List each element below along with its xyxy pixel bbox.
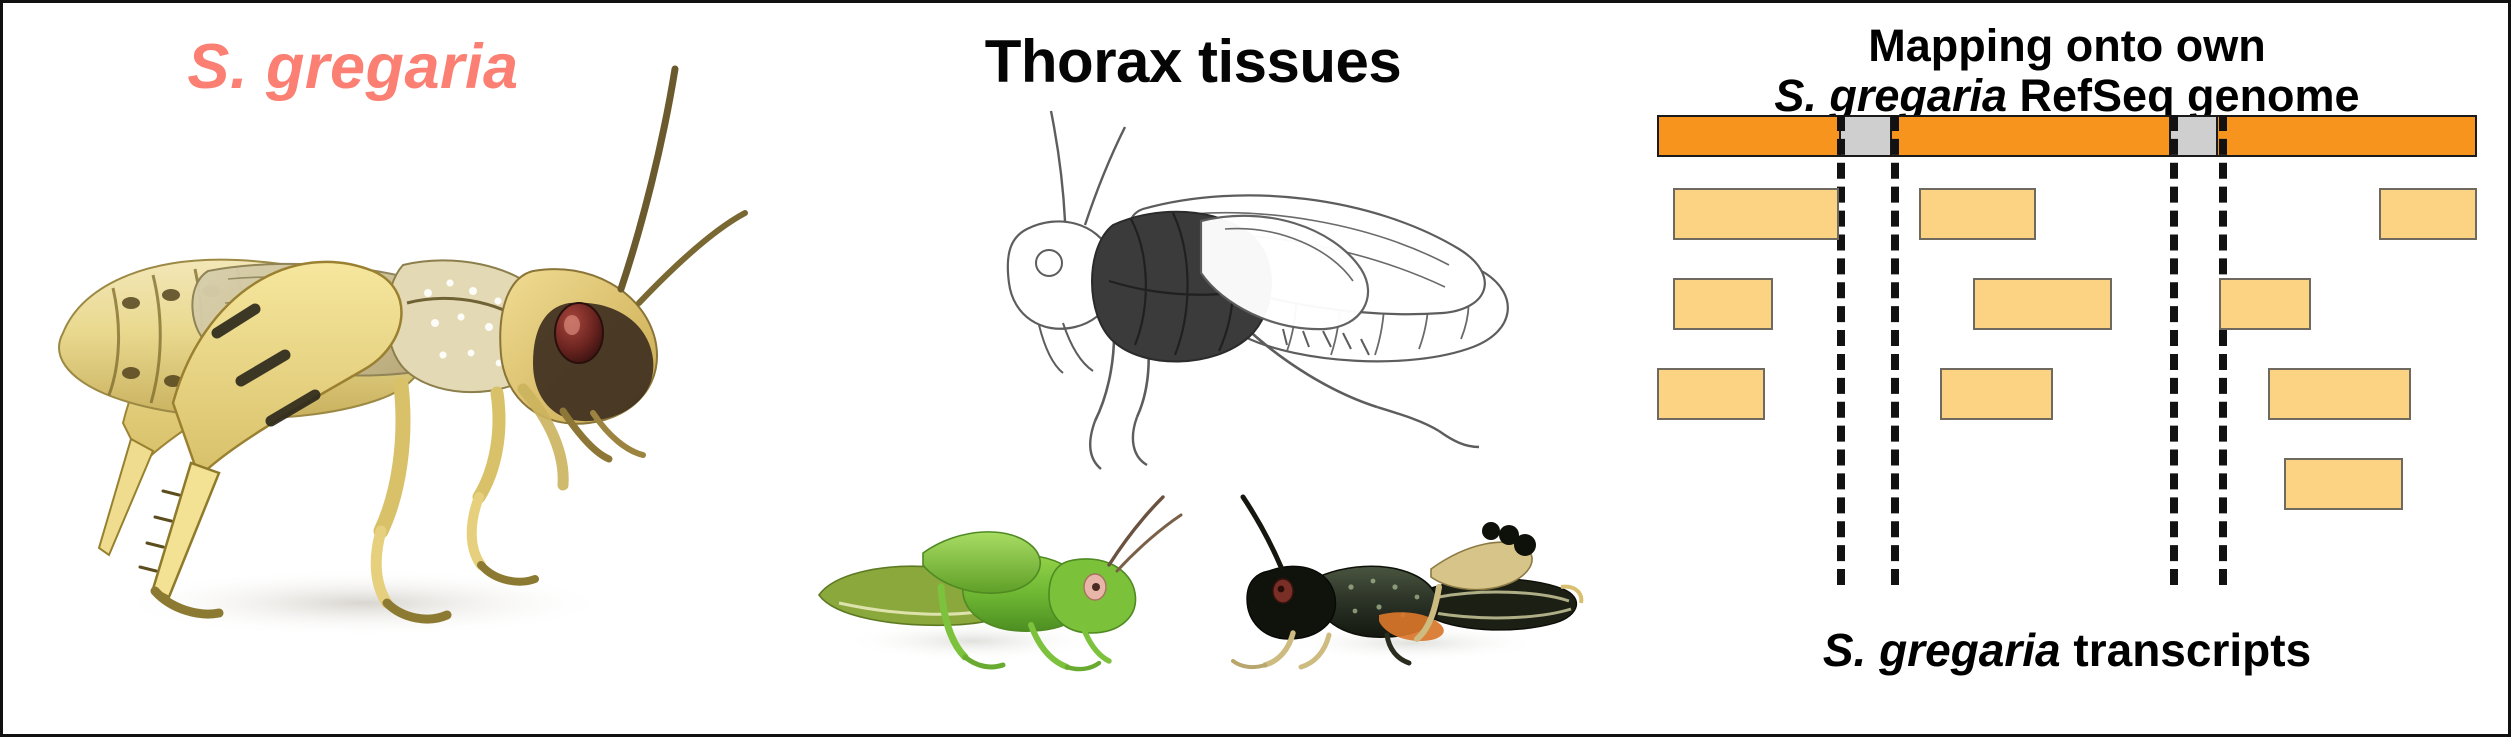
- dark-nymph: [1233, 497, 1581, 667]
- transcript-row: [1657, 278, 2477, 330]
- mapping-title: Mapping onto own S. gregaria RefSeq geno…: [1623, 21, 2511, 121]
- thorax-tissues-title: Thorax tissues: [763, 27, 1623, 96]
- transcript-block: [2268, 368, 2412, 420]
- exon-boundary-guide-line: [2219, 115, 2227, 585]
- transcript-block: [1973, 278, 2112, 330]
- desert-locust-photo-panel: S. gregaria: [3, 3, 763, 734]
- mapping-title-line2: S. gregaria RefSeq genome: [1623, 71, 2511, 121]
- desert-locust-photo: [3, 3, 763, 737]
- transcript-row: [1657, 368, 2477, 420]
- transcript-block: [1673, 278, 1773, 330]
- exon-boundary-guide-line: [1891, 115, 1899, 585]
- caption-rest: transcripts: [2073, 624, 2311, 676]
- transcripts-caption: S. gregaria transcripts: [1623, 623, 2511, 677]
- green-nymph: [819, 497, 1181, 669]
- exon-boundary-guide-line: [1837, 115, 1845, 585]
- transcript-row: [1657, 458, 2477, 510]
- graphical-abstract-figure: S. gregaria: [0, 0, 2511, 737]
- transcript-block: [1673, 188, 1839, 240]
- thorax-tissues-panel: Thorax tissues: [763, 3, 1623, 734]
- transcript-block: [2219, 278, 2311, 330]
- genome-mapping-panel: Mapping onto own S. gregaria RefSeq geno…: [1623, 3, 2511, 734]
- locust-nymph-photos: [783, 483, 1613, 673]
- caption-species: S. gregaria: [1823, 624, 2061, 676]
- transcript-block: [2379, 188, 2477, 240]
- exon-boundary-guide-line: [2170, 115, 2178, 585]
- genome-intron-segment: [1839, 117, 1892, 155]
- transcript-row: [1657, 188, 2477, 240]
- species-label-s-gregaria: S. gregaria: [3, 31, 703, 103]
- reference-genome-bar: [1657, 115, 2477, 157]
- transcript-block: [1657, 368, 1765, 420]
- mapping-title-rest: RefSeq genome: [2020, 70, 2360, 121]
- grasshopper-line-drawing: [813, 101, 1583, 481]
- mapping-title-species: S. gregaria: [1774, 70, 2007, 121]
- transcript-block: [1919, 188, 2035, 240]
- transcript-block: [2284, 458, 2403, 510]
- mapping-title-line1: Mapping onto own: [1623, 21, 2511, 71]
- transcript-block: [1940, 368, 2053, 420]
